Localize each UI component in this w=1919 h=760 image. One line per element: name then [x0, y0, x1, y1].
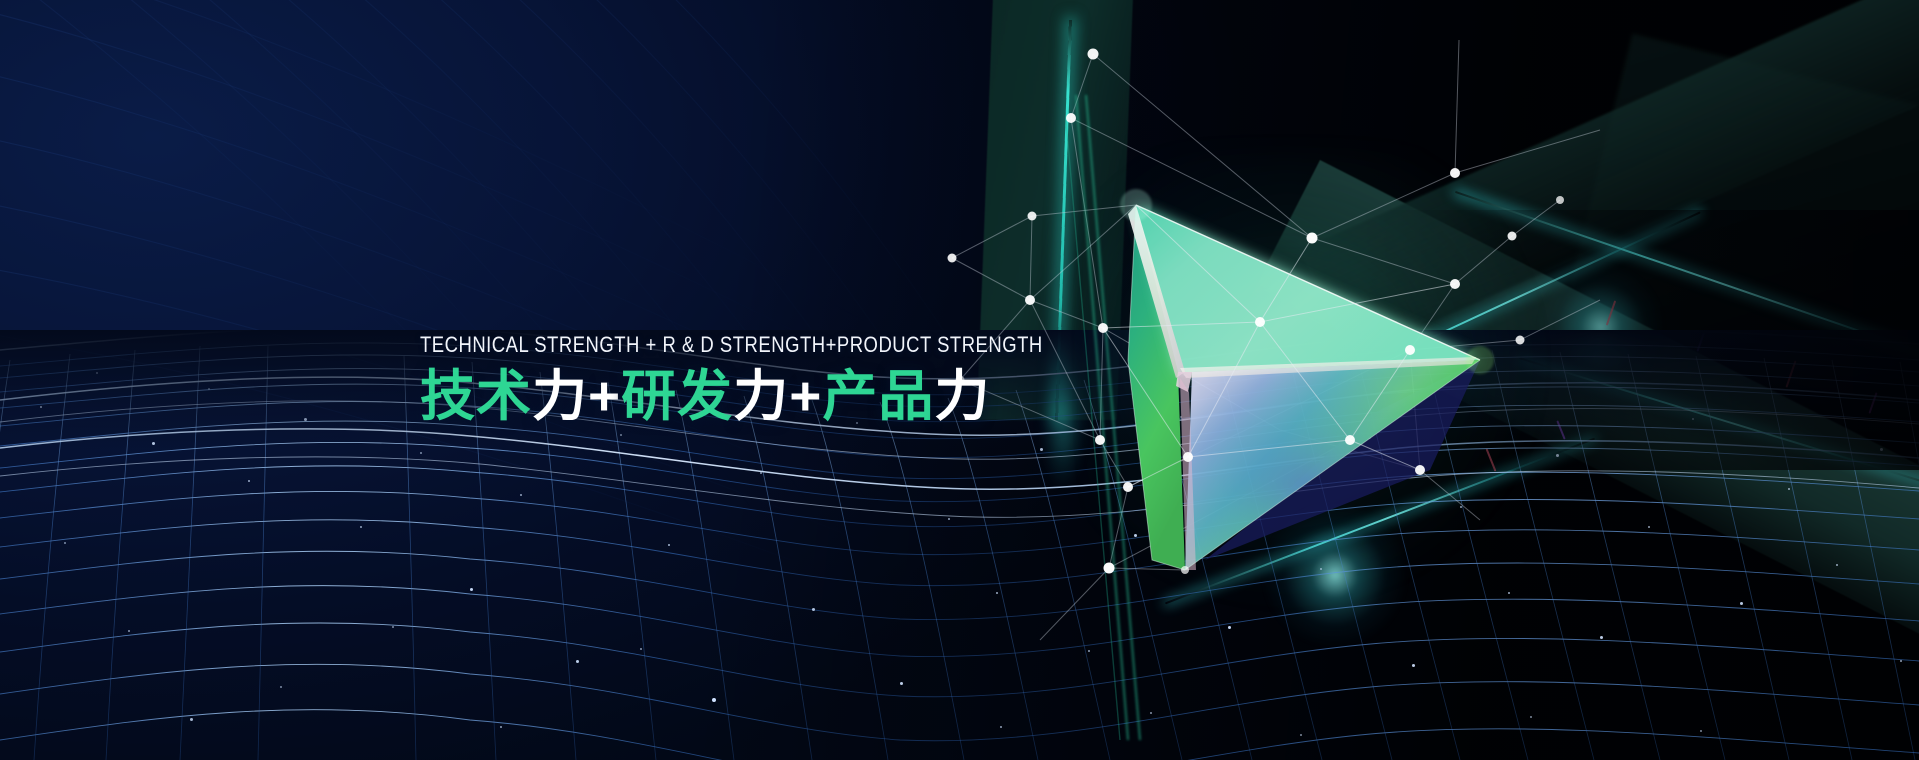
- cn-part-7: 产品: [822, 365, 934, 427]
- cn-part-6: +: [789, 365, 822, 427]
- headline-block: TECHNICAL STRENGTH + R & D STRENGTH+PROD…: [420, 333, 1161, 428]
- cn-part-1: 技术: [420, 365, 532, 427]
- cn-part-5: 力: [733, 365, 789, 427]
- cn-part-2: 力: [532, 365, 588, 427]
- hero-banner: TECHNICAL STRENGTH + R & D STRENGTH+PROD…: [0, 0, 1919, 760]
- headline-chinese: 技术力+研发力+产品力: [420, 366, 1161, 428]
- cn-part-4: 研发: [621, 365, 733, 427]
- headline-english: TECHNICAL STRENGTH + R & D STRENGTH+PROD…: [420, 333, 1043, 357]
- cn-part-8: 力: [934, 365, 990, 427]
- cn-part-3: +: [588, 365, 621, 427]
